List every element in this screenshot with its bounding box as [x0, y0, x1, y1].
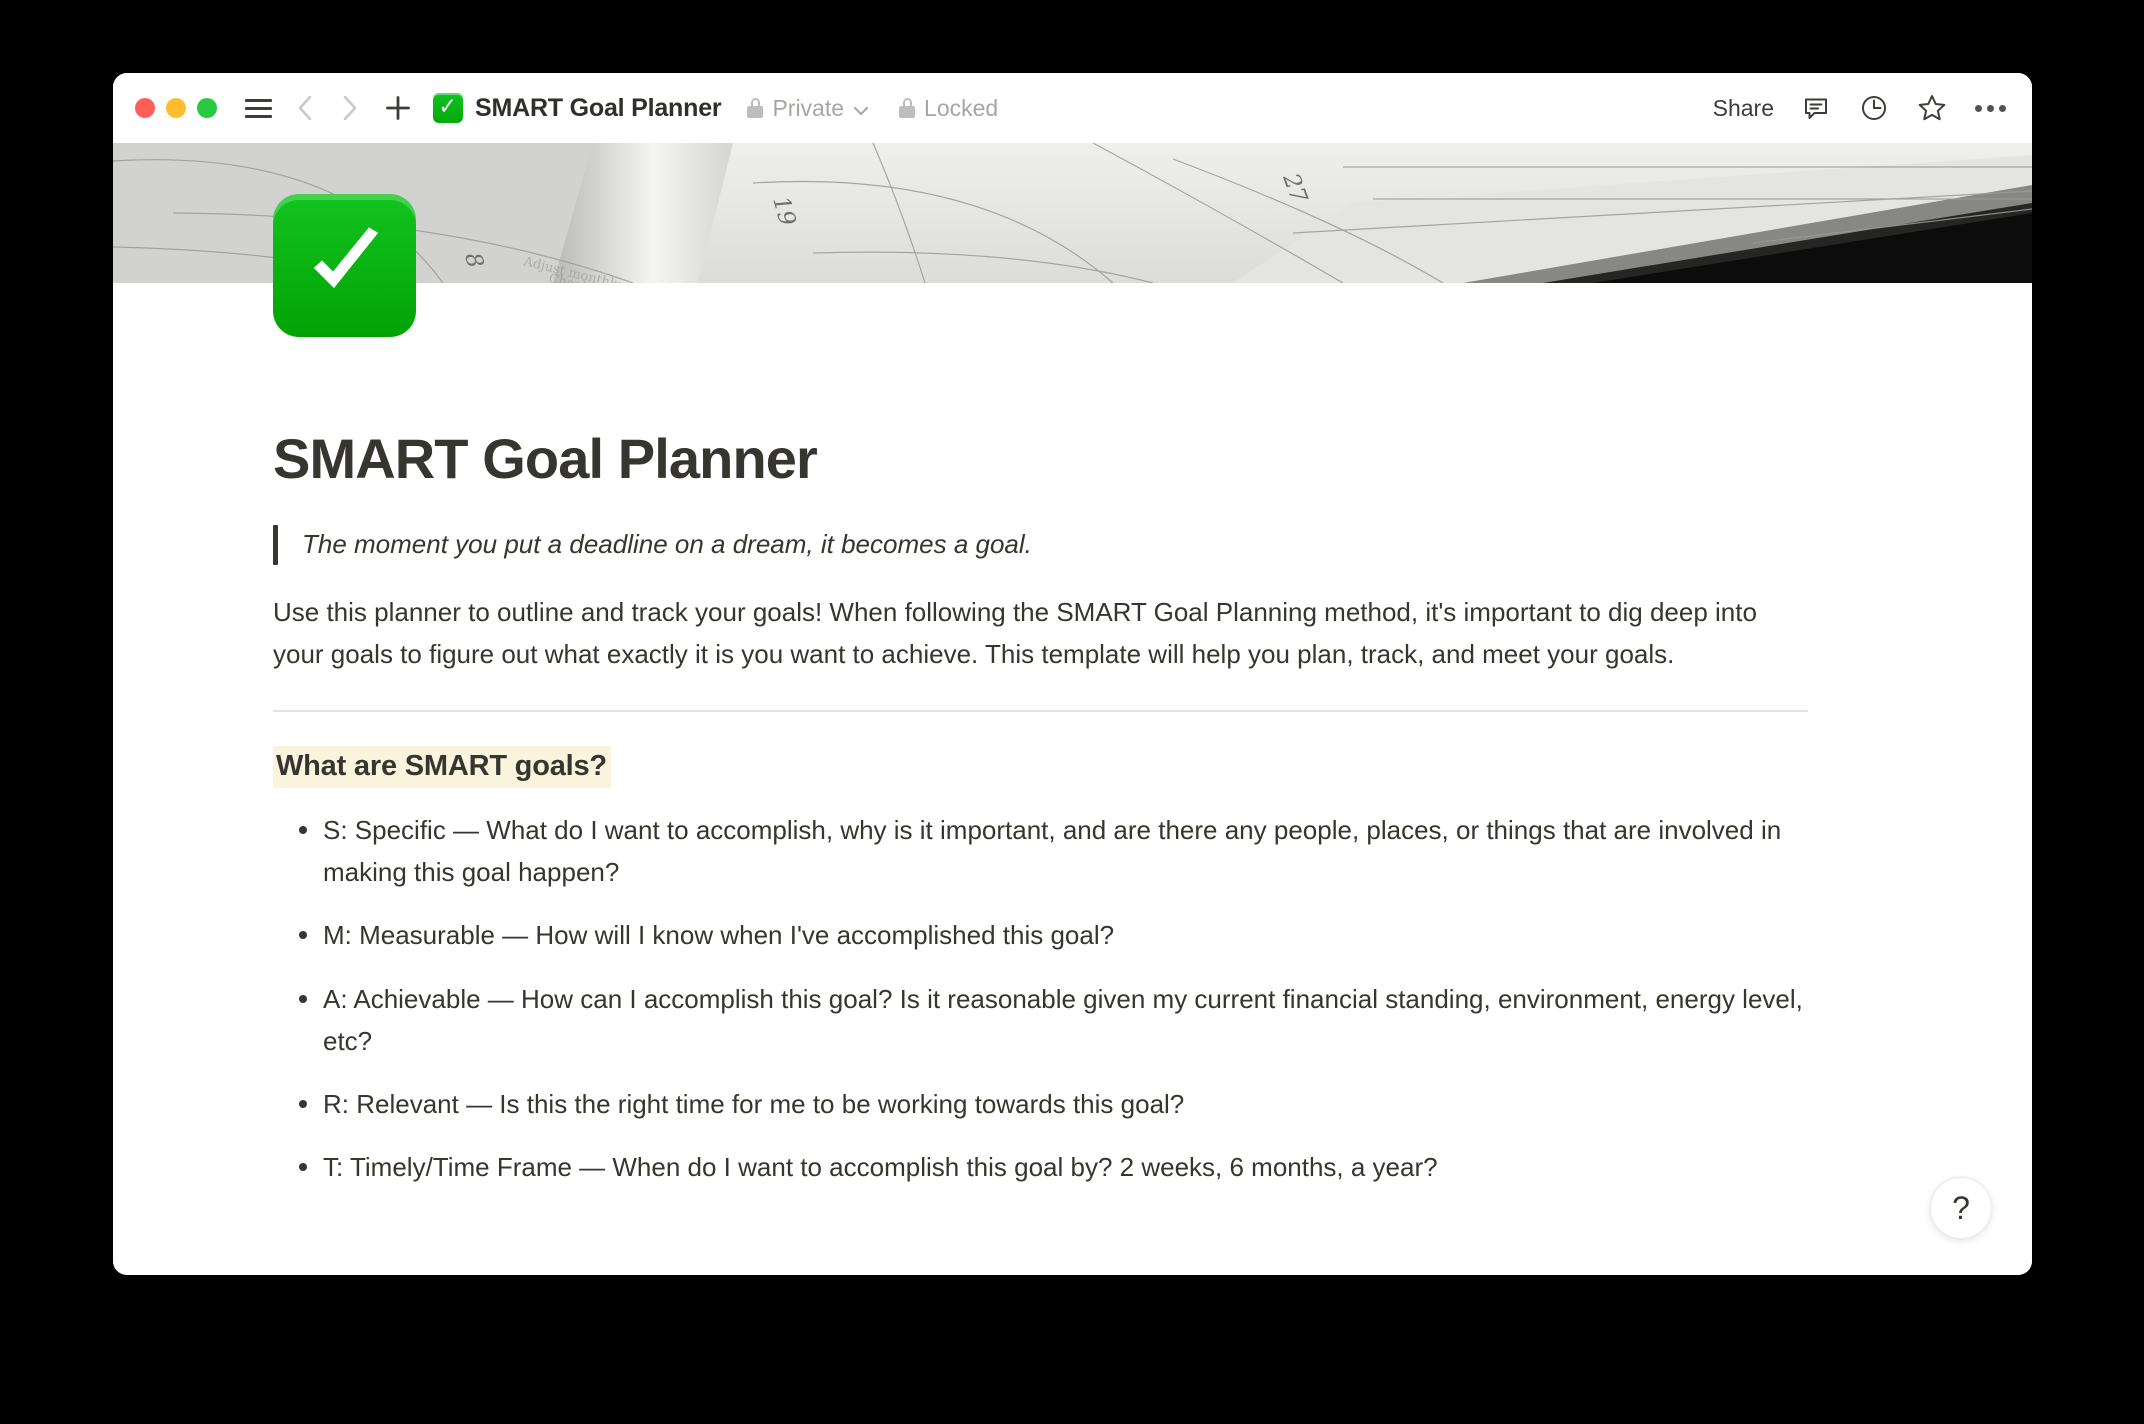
history-clock-icon[interactable]: [1858, 92, 1890, 124]
checkmark-icon: [299, 220, 391, 312]
intro-paragraph[interactable]: Use this planner to outline and track yo…: [273, 591, 1801, 676]
title-bar: ✓ SMART Goal Planner Private Locked Shar…: [113, 73, 2032, 143]
list-item[interactable]: A: Achievable — How can I accomplish thi…: [273, 978, 1813, 1062]
window-controls: [135, 98, 217, 118]
lock-icon: [747, 98, 763, 118]
dot: [1999, 105, 2006, 112]
chevron-right-icon[interactable]: [333, 91, 367, 125]
list-item[interactable]: M: Measurable — How will I know when I'v…: [273, 914, 1813, 956]
horizontal-divider: [273, 710, 1808, 712]
list-item[interactable]: T: Timely/Time Frame — When do I want to…: [273, 1146, 1813, 1188]
more-options-icon[interactable]: [1974, 92, 2006, 124]
app-window: ✓ SMART Goal Planner Private Locked Shar…: [113, 73, 2032, 1275]
quote-text: The moment you put a deadline on a dream…: [278, 525, 1032, 564]
hamburger-line: [245, 115, 272, 118]
title-bar-actions: Share: [1713, 73, 2006, 143]
section-heading[interactable]: What are SMART goals?: [273, 746, 611, 788]
minimize-window-button[interactable]: [166, 98, 186, 118]
smart-goals-list: S: Specific — What do I want to accompli…: [273, 809, 1813, 1188]
share-button[interactable]: Share: [1713, 95, 1774, 122]
maximize-window-button[interactable]: [197, 98, 217, 118]
sidebar-toggle-icon[interactable]: [241, 91, 275, 125]
help-button[interactable]: ?: [1930, 1177, 1992, 1239]
close-window-button[interactable]: [135, 98, 155, 118]
page-emoji-glyph: ✓: [439, 96, 457, 119]
quote-block[interactable]: The moment you put a deadline on a dream…: [273, 525, 1813, 565]
hamburger-line: [245, 107, 272, 110]
chevron-left-icon[interactable]: [287, 91, 321, 125]
locked-status[interactable]: Locked: [899, 95, 998, 122]
page-title-breadcrumb[interactable]: SMART Goal Planner: [475, 94, 721, 123]
privacy-selector[interactable]: Private: [747, 95, 869, 122]
star-icon[interactable]: [1916, 92, 1948, 124]
dot: [1975, 105, 1982, 112]
privacy-label: Private: [772, 95, 844, 122]
page-icon[interactable]: [273, 194, 416, 337]
page-emoji-icon[interactable]: ✓: [433, 93, 463, 123]
list-item[interactable]: S: Specific — What do I want to accompli…: [273, 809, 1813, 893]
lock-icon: [899, 98, 915, 118]
chevron-down-icon: [853, 95, 869, 122]
hamburger-line: [245, 99, 272, 102]
new-page-plus-icon[interactable]: [381, 91, 415, 125]
page-body: SMART Goal Planner The moment you put a …: [113, 283, 2032, 1275]
locked-label: Locked: [924, 95, 998, 122]
dot: [1987, 105, 1994, 112]
comment-icon[interactable]: [1800, 92, 1832, 124]
page-content: SMART Goal Planner The moment you put a …: [273, 428, 1813, 1188]
page-heading[interactable]: SMART Goal Planner: [273, 428, 1813, 491]
list-item[interactable]: R: Relevant — Is this the right time for…: [273, 1083, 1813, 1125]
